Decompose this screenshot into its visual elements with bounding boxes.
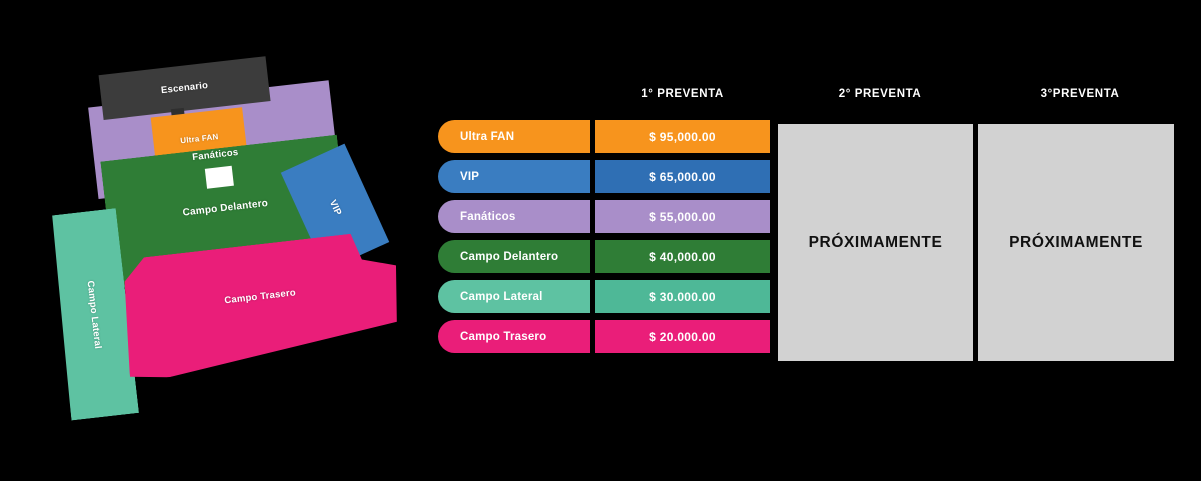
zone-pill-campo-trasero[interactable]: Campo Trasero — [438, 320, 590, 353]
price-cell-vip-preventa-1: $ 65,000.00 — [595, 160, 770, 193]
map-sound-booth — [205, 166, 234, 189]
pricing-rows: Ultra FAN $ 95,000.00 VIP $ 65,000.00 Fa… — [430, 116, 775, 356]
zone-pill-campo-lateral[interactable]: Campo Lateral — [438, 280, 590, 313]
coming-soon-panel-preventa-2: PRÓXIMAMENTE — [778, 124, 973, 361]
zone-pill-ultra-fan[interactable]: Ultra FAN — [438, 120, 590, 153]
pricing-table: 1° PREVENTA 2° PREVENTA 3°PREVENTA Ultra… — [430, 88, 1190, 373]
coming-soon-panel-preventa-3: PRÓXIMAMENTE — [978, 124, 1174, 361]
price-cell-campo-delantero-preventa-1: $ 40,000.00 — [595, 240, 770, 273]
venue-seating-map: Escenario Ultra FAN Fanáticos Campo Dela… — [0, 0, 440, 481]
zone-pill-fanaticos[interactable]: Fanáticos — [438, 200, 590, 233]
column-header-preventa-2: 2° PREVENTA — [780, 88, 980, 100]
table-row[interactable]: Ultra FAN $ 95,000.00 — [430, 116, 775, 156]
price-cell-ultra-fan-preventa-1: $ 95,000.00 — [595, 120, 770, 153]
pricing-column-headers: 1° PREVENTA 2° PREVENTA 3°PREVENTA — [430, 88, 1190, 116]
price-cell-fanaticos-preventa-1: $ 55,000.00 — [595, 200, 770, 233]
column-header-preventa-1: 1° PREVENTA — [595, 88, 770, 100]
column-header-preventa-3: 3°PREVENTA — [980, 88, 1180, 100]
table-row[interactable]: Campo Delantero $ 40,000.00 — [430, 236, 775, 276]
table-row[interactable]: Campo Lateral $ 30.000.00 — [430, 276, 775, 316]
poster-root: Escenario Ultra FAN Fanáticos Campo Dela… — [0, 0, 1201, 481]
price-cell-campo-trasero-preventa-1: $ 20.000.00 — [595, 320, 770, 353]
venue-map-rotation-group: Escenario Ultra FAN Fanáticos Campo Dela… — [0, 0, 466, 481]
zone-pill-campo-delantero[interactable]: Campo Delantero — [438, 240, 590, 273]
table-row[interactable]: Campo Trasero $ 20.000.00 — [430, 316, 775, 356]
table-row[interactable]: VIP $ 65,000.00 — [430, 156, 775, 196]
table-row[interactable]: Fanáticos $ 55,000.00 — [430, 196, 775, 236]
price-cell-campo-lateral-preventa-1: $ 30.000.00 — [595, 280, 770, 313]
zone-pill-vip[interactable]: VIP — [438, 160, 590, 193]
